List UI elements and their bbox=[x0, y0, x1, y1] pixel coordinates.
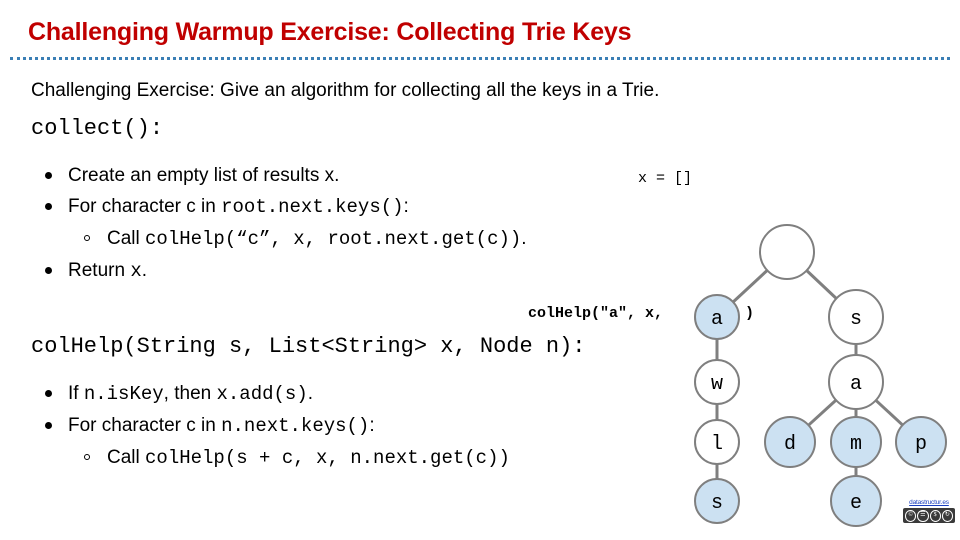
code-span: n.isKey bbox=[84, 383, 164, 405]
prose-span: If bbox=[68, 383, 84, 404]
trie-node-w[interactable]: w bbox=[695, 360, 739, 404]
code-span: colHelp(“c”, x, root.next.get(c)) bbox=[145, 228, 521, 250]
cc-mark-sa-icon: ↻ bbox=[942, 510, 953, 522]
trie-node-label: m bbox=[850, 433, 862, 456]
prose-span: For character c in bbox=[68, 196, 221, 217]
trie-node-a[interactable]: a bbox=[829, 355, 883, 409]
trie-node-circle bbox=[760, 225, 814, 279]
collect-signature: collect(): bbox=[31, 116, 163, 141]
prose-span: . bbox=[521, 228, 526, 249]
trie-node-l[interactable]: l bbox=[695, 420, 739, 464]
trie-node-s[interactable]: s bbox=[695, 479, 739, 523]
cc-mark-nc-icon: $ bbox=[930, 510, 941, 522]
trie-node-d[interactable]: d bbox=[765, 417, 815, 467]
trie-node-label: l bbox=[711, 433, 723, 456]
trie-node-label: a bbox=[850, 373, 862, 396]
title-divider bbox=[10, 57, 950, 63]
trie-node-label: e bbox=[850, 492, 862, 515]
collect-bullet-item: For character c in root.next.keys(): bbox=[31, 191, 527, 223]
trie-edge bbox=[733, 270, 767, 302]
code-span: root.next.keys() bbox=[221, 196, 403, 218]
trie-node-label: s bbox=[850, 308, 862, 331]
code-span: n.next.keys() bbox=[221, 415, 369, 437]
intro-text: Challenging Exercise: Give an algorithm … bbox=[31, 80, 659, 102]
prose-span: : bbox=[404, 196, 409, 217]
trie-node-s[interactable]: s bbox=[829, 290, 883, 344]
prose-span: Create an empty list of results x. bbox=[68, 165, 339, 186]
collect-bullet-list: Create an empty list of results x.For ch… bbox=[31, 160, 527, 287]
colhelp-bullet-list: If n.isKey, then x.add(s).For character … bbox=[31, 378, 510, 474]
trie-node-label: a bbox=[711, 308, 723, 331]
trie-node-a[interactable]: a bbox=[695, 295, 739, 339]
prose-span: . bbox=[142, 260, 147, 281]
code-span: x.add(s) bbox=[217, 383, 308, 405]
trie-diagram: awlssadmpe bbox=[660, 215, 960, 535]
prose-span: : bbox=[369, 415, 374, 436]
code-span: x bbox=[130, 260, 141, 282]
prose-span: For character c in bbox=[68, 415, 221, 436]
trie-node-root[interactable] bbox=[760, 225, 814, 279]
colhelp-bullet-item: If n.isKey, then x.add(s). bbox=[31, 378, 510, 410]
creative-commons-badge: ©☰$↻ bbox=[903, 508, 955, 523]
trie-node-label: p bbox=[915, 433, 927, 456]
trie-node-e[interactable]: e bbox=[831, 476, 881, 526]
code-span: colHelp(s + c, x, n.next.get(c)) bbox=[145, 447, 510, 469]
prose-span: Call bbox=[107, 447, 145, 468]
collect-bullet-item: Call colHelp(“c”, x, root.next.get(c)). bbox=[31, 223, 527, 255]
prose-span: , then bbox=[164, 383, 217, 404]
prose-span: Call bbox=[107, 228, 145, 249]
cc-mark-cc-icon: © bbox=[905, 510, 916, 522]
annotation-x-empty: x = [] bbox=[638, 170, 692, 187]
trie-edge bbox=[807, 271, 837, 299]
colhelp-signature: colHelp(String s, List<String> x, Node n… bbox=[31, 334, 586, 359]
cc-mark-by-icon: ☰ bbox=[917, 510, 928, 522]
colhelp-bullet-item: Call colHelp(s + c, x, n.next.get(c)) bbox=[31, 442, 510, 474]
trie-node-label: d bbox=[784, 433, 796, 456]
datastructures-link[interactable]: datastructur.es bbox=[903, 499, 955, 506]
page-title: Challenging Warmup Exercise: Collecting … bbox=[28, 18, 631, 47]
trie-edge bbox=[876, 400, 903, 425]
colhelp-bullet-item: For character c in n.next.keys(): bbox=[31, 410, 510, 442]
trie-node-m[interactable]: m bbox=[831, 417, 881, 467]
annotation-colhelp-call: colHelp("a", x, bbox=[528, 305, 663, 322]
prose-span: Return bbox=[68, 260, 130, 281]
trie-node-p[interactable]: p bbox=[896, 417, 946, 467]
prose-span: . bbox=[308, 383, 313, 404]
trie-node-label: s bbox=[711, 492, 723, 515]
collect-bullet-item: Create an empty list of results x. bbox=[31, 160, 527, 191]
trie-edge bbox=[808, 400, 836, 425]
footer-credit: datastructur.es ©☰$↻ bbox=[903, 499, 955, 523]
trie-node-label: w bbox=[711, 373, 723, 396]
collect-bullet-item: Return x. bbox=[31, 255, 527, 287]
